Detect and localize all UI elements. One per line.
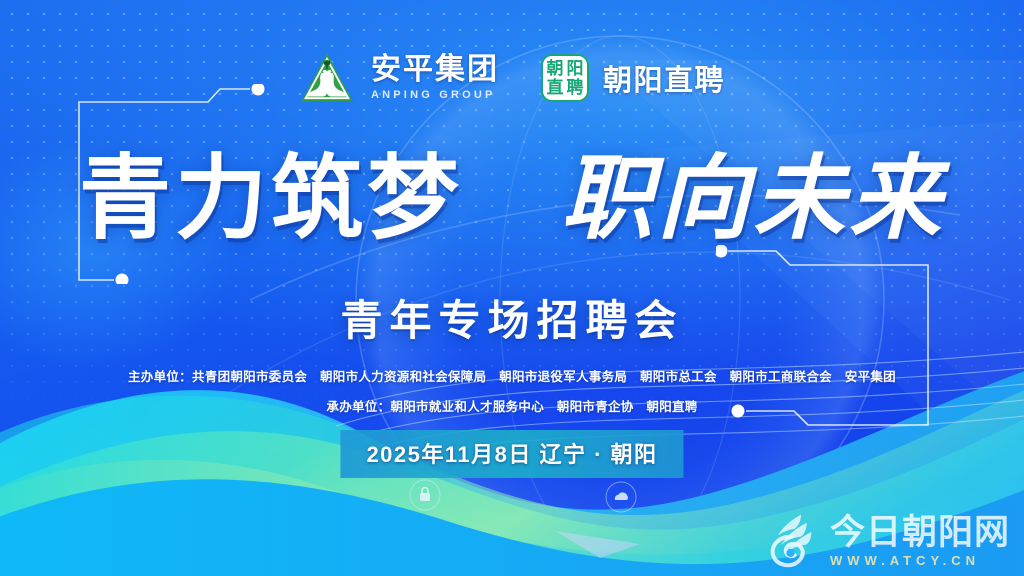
anping-triangle-birds-logo <box>299 50 355 106</box>
site-watermark: 今日朝阳网 WWW.ATCY.CN <box>765 510 1010 568</box>
watermark-site-name: 今日朝阳网 <box>830 514 1010 552</box>
lock-icon <box>408 478 442 512</box>
organizer-line-coorganizer: 承办单位：朝阳市就业和人才服务中心 朝阳市青企协 朝阳直聘 <box>0 400 1024 415</box>
anping-wordmark: 安平集团 ANPING GROUP <box>371 55 499 101</box>
organizer-line-host: 主办单位：共青团朝阳市委员会 朝阳市人力资源和社会保障局 朝阳市退役军人事务局 … <box>0 370 1024 385</box>
watermark-url: WWW.ATCY.CN <box>830 553 980 568</box>
headline-part-2: 职向未来 <box>561 145 945 252</box>
organizer-block: 主办单位：共青团朝阳市委员会 朝阳市人力资源和社会保障局 朝阳市退役军人事务局 … <box>0 370 1024 430</box>
watermark-texts: 今日朝阳网 WWW.ATCY.CN <box>830 514 1010 568</box>
anping-name-cn: 安平集团 <box>371 55 499 85</box>
cloud-icon <box>604 480 638 514</box>
zhipin-badge-char-4: 聘 <box>566 78 583 97</box>
zhipin-badge-char-1: 朝 <box>546 59 563 78</box>
headline-part-1: 青力筑梦 <box>79 145 463 252</box>
anping-name-en: ANPING GROUP <box>371 90 499 101</box>
zhipin-badge-icon: 朝 阳 直 聘 <box>541 54 589 102</box>
poster-canvas: 安平集团 ANPING GROUP 朝 阳 直 聘 朝阳直聘 青力筑梦 职向未来… <box>0 0 1024 576</box>
poster-headline: 青力筑梦 职向未来 <box>0 124 1024 257</box>
zhipin-wordmark: 朝阳直聘 <box>603 57 725 99</box>
date-location-badge: 2025年11月8日 辽宁 · 朝阳 <box>340 430 683 478</box>
atcy-flame-swirl-logo <box>765 510 823 568</box>
brand-logo-row: 安平集团 ANPING GROUP 朝 阳 直 聘 朝阳直聘 <box>0 47 1024 109</box>
zhipin-badge-char-2: 阳 <box>566 59 583 78</box>
poster-subtitle: 青年专场招聘会 <box>0 287 1024 348</box>
zhipin-badge-char-3: 直 <box>546 78 563 97</box>
